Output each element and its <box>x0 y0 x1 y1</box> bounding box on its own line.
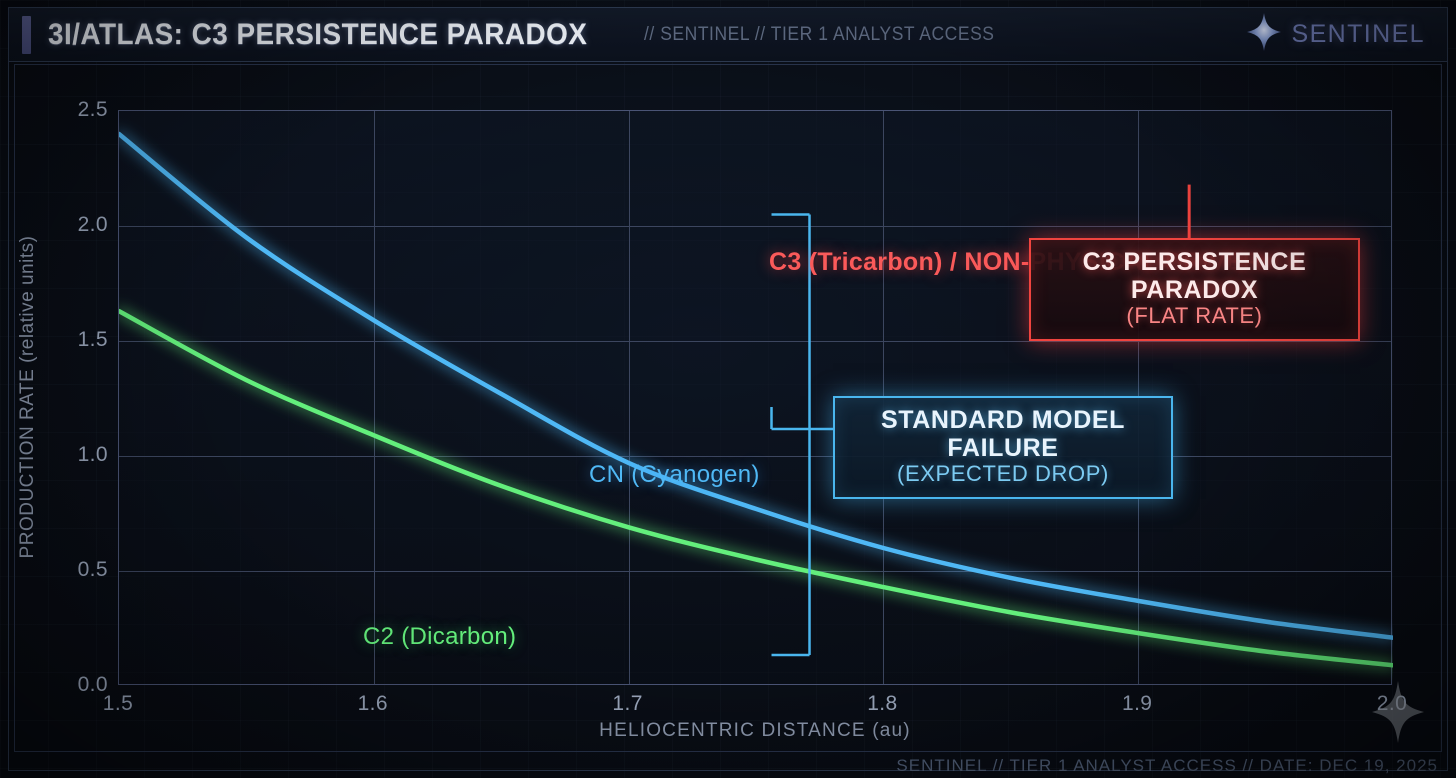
header-accent-bar <box>22 16 31 54</box>
brand-name: SENTINEL <box>1292 20 1425 49</box>
y-tick-label: 2.5 <box>50 98 108 122</box>
x-tick-label: 1.5 <box>103 692 133 716</box>
y-axis-ticks: 0.00.51.01.52.02.5 <box>48 110 108 685</box>
series-label-c2: C2 (Dicarbon) <box>363 623 516 651</box>
watermark-star-icon <box>1372 681 1424 748</box>
series-label-cn: CN (Cyanogen) <box>589 461 760 489</box>
x-tick-label: 1.8 <box>867 692 897 716</box>
y-tick-label: 1.5 <box>50 328 108 352</box>
annotation-standard-model-failure: STANDARD MODEL FAILURE (EXPECTED DROP) <box>833 396 1173 499</box>
annotation-blue-line2: (EXPECTED DROP) <box>853 462 1153 487</box>
header-subtitle: // SENTINEL // TIER 1 ANALYST ACCESS <box>644 24 994 46</box>
annotation-blue-line1: STANDARD MODEL FAILURE <box>853 406 1153 462</box>
series-line-cn <box>119 134 1393 638</box>
y-tick-label: 2.0 <box>50 213 108 237</box>
annotation-red-line2: (FLAT RATE) <box>1049 304 1340 329</box>
footer-text: SENTINEL // TIER 1 ANALYST ACCESS // DAT… <box>896 756 1438 776</box>
y-tick-label: 0.0 <box>50 673 108 697</box>
x-tick-label: 1.6 <box>358 692 388 716</box>
annotation-c3-persistence-paradox: C3 PERSISTENCE PARADOX (FLAT RATE) <box>1029 238 1360 341</box>
dashboard-root: 3I/ATLAS: C3 PERSISTENCE PARADOX // SENT… <box>0 0 1456 778</box>
brand-logo: SENTINEL <box>1247 13 1425 56</box>
page-title: 3I/ATLAS: C3 PERSISTENCE PARADOX <box>48 18 587 52</box>
chart-plot-area: C3 (Tricarbon) / NON-PHYSICAL DRIVER CN … <box>118 110 1392 685</box>
chart-series-layer <box>119 111 1393 686</box>
annotation-red-line1: C3 PERSISTENCE PARADOX <box>1049 248 1340 304</box>
four-point-star-icon <box>1247 13 1281 56</box>
series-paths <box>119 134 1393 665</box>
x-axis-ticks: 1.51.61.71.81.92.0 <box>118 692 1392 718</box>
x-tick-label: 1.7 <box>612 692 642 716</box>
y-tick-label: 1.0 <box>50 443 108 467</box>
y-axis-label: PRODUCTION RATE (relative units) <box>17 137 39 657</box>
header-bar: 3I/ATLAS: C3 PERSISTENCE PARADOX // SENT… <box>9 8 1447 62</box>
y-tick-label: 0.5 <box>50 558 108 582</box>
x-tick-label: 1.9 <box>1122 692 1152 716</box>
x-axis-label: HELIOCENTRIC DISTANCE (au) <box>118 720 1392 742</box>
